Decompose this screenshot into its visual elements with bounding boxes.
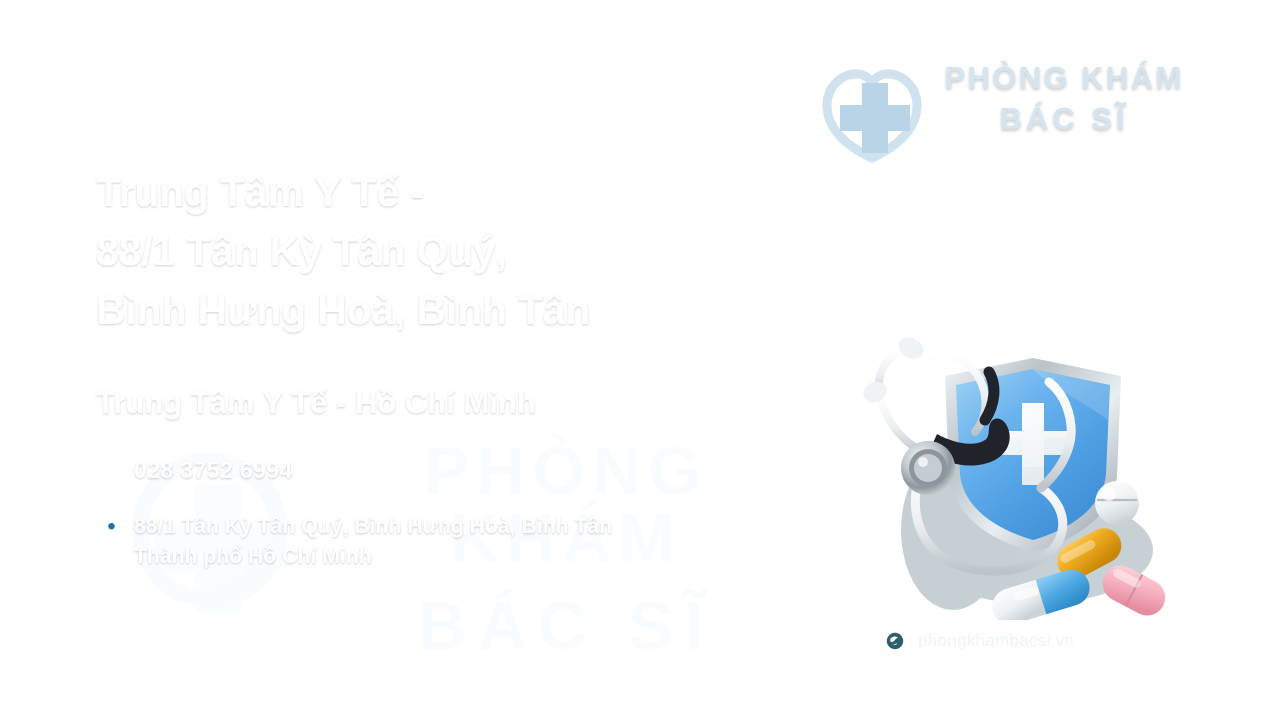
banner-root: PHÒNG KHÁM BÁC SĨ PHÒNG KHÁM BÁC SĨ Trun… <box>0 0 1280 720</box>
background-band <box>0 0 576 720</box>
globe-icon <box>883 629 907 653</box>
headline-line-2: 88/1 Tân Kỳ Tân Quý, <box>96 222 736 281</box>
background-band <box>0 0 920 720</box>
map-pin-icon <box>96 514 126 544</box>
brand-line-2: BÁC SĨ <box>938 103 1190 135</box>
headline-line-3: Bình Hưng Hoà, Bình Tân <box>96 281 736 340</box>
page-title: Trung Tâm Y Tế - 88/1 Tân Kỳ Tân Quý, Bì… <box>96 163 736 340</box>
brand-text: PHÒNG KHÁM BÁC SĨ <box>938 62 1190 134</box>
white-round-tablet <box>1095 481 1139 525</box>
headline-line-1: Trung Tâm Y Tế - <box>96 163 736 222</box>
watermark-line-2: BÁC SĨ <box>306 593 826 660</box>
brand-logo: PHÒNG KHÁM BÁC SĨ <box>818 58 1188 170</box>
address-line-2: Thành phố Hồ Chí Minh <box>134 545 372 568</box>
medical-cross-heart-logo-icon <box>818 61 926 167</box>
background-band <box>0 0 413 720</box>
phone-row[interactable]: 028 3752 6994 <box>96 455 293 487</box>
phone-number: 028 3752 6994 <box>134 455 293 485</box>
subtitle: Trung Tâm Y Tế - Hồ Chí Minh <box>96 385 756 421</box>
phone-call-icon <box>96 457 126 487</box>
medical-illustration <box>845 300 1175 620</box>
brand-line-1: PHÒNG KHÁM <box>938 62 1190 94</box>
website-url: phongkhambacsi.vn <box>918 631 1074 651</box>
address-row[interactable]: 88/1 Tân Kỳ Tân Quý, Bình Hưng Hoà, Bình… <box>96 512 754 572</box>
divider <box>96 353 634 357</box>
website-badge[interactable]: phongkhambacsi.vn <box>872 622 1142 660</box>
address-line-1: 88/1 Tân Kỳ Tân Quý, Bình Hưng Hoà, Bình… <box>134 515 612 538</box>
